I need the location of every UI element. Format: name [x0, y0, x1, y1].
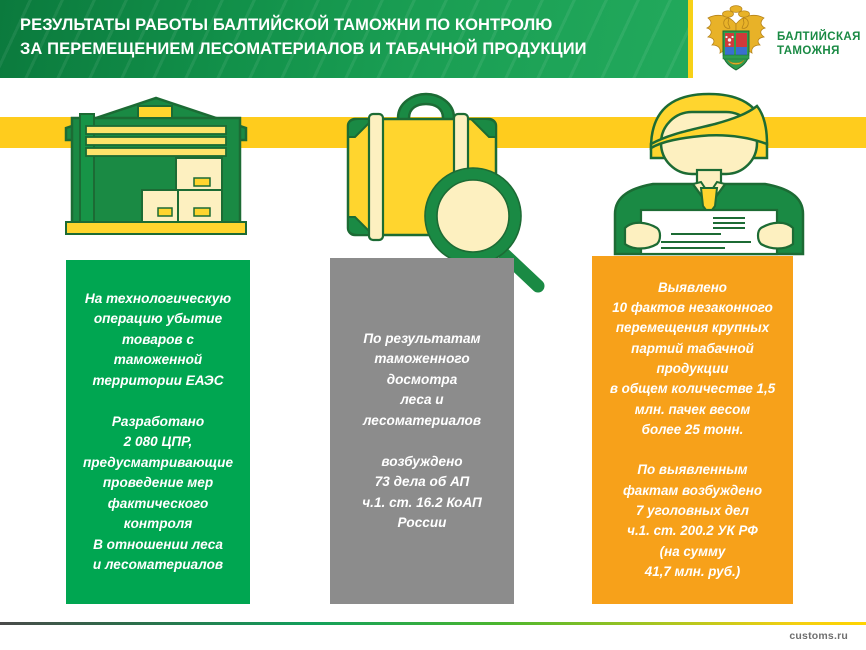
customs-officer-document-icon: [605, 88, 813, 263]
panel-orange: Выявлено 10 фактов незаконного перемещен…: [592, 256, 793, 604]
warehouse-icon: [58, 96, 254, 256]
footer-divider: [0, 622, 866, 625]
panel-gray: По результатам таможенного досмотра леса…: [330, 258, 514, 604]
page-title: РЕЗУЛЬТАТЫ РАБОТЫ БАЛТИЙСКОЙ ТАМОЖНИ ПО …: [20, 13, 670, 61]
header-accent-strip: [688, 0, 693, 78]
panel-green: На технологическую операцию убытие товар…: [66, 260, 250, 604]
footer-site: customs.ru: [789, 630, 848, 642]
logo-text: БАЛТИЙСКАЯ ТАМОЖНЯ: [777, 30, 861, 58]
double-headed-eagle-icon: [699, 4, 773, 78]
infographic-slide: РЕЗУЛЬТАТЫ РАБОТЫ БАЛТИЙСКОЙ ТАМОЖНИ ПО …: [0, 0, 866, 650]
logo: БАЛТИЙСКАЯ ТАМОЖНЯ: [697, 4, 863, 78]
